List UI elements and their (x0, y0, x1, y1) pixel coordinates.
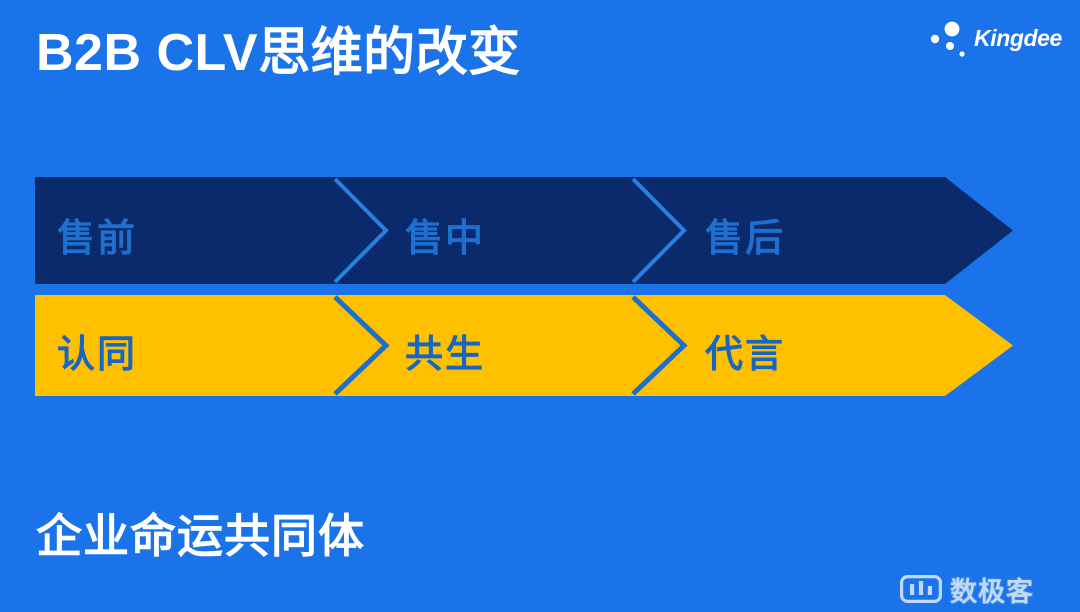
page-title: B2B CLV思维的改变 (36, 22, 896, 84)
stage-step-label-1: 售中 (405, 207, 485, 262)
stage-step-label-2: 售后 (705, 207, 785, 262)
stage-band-shape (35, 177, 1013, 284)
bottom-headline: 企业命运共同体 (36, 508, 365, 564)
relation-step-label-2: 代言 (705, 323, 785, 378)
relation-step-label-1: 共生 (405, 323, 485, 378)
kingdee-dots-icon (928, 20, 974, 62)
watermark: 数极客 (900, 570, 1034, 608)
stage-step-label-0: 售前 (57, 207, 137, 262)
watermark-text: 数极客 (950, 570, 1034, 609)
relation-step-label-0: 认同 (57, 323, 137, 378)
slide-canvas: Kingdee B2B CLV思维的改变 售前 售中 售后 认同 共生 代言 企… (0, 0, 1080, 612)
kingdee-logo-text: Kingdee (974, 25, 1062, 52)
relation-band: 认同 共生 代言 (35, 295, 1013, 396)
kingdee-logo: Kingdee (928, 18, 1068, 64)
bar-bracket-icon (900, 575, 942, 603)
stage-band: 售前 售中 售后 (35, 177, 1013, 284)
relation-band-shape (35, 295, 1013, 396)
